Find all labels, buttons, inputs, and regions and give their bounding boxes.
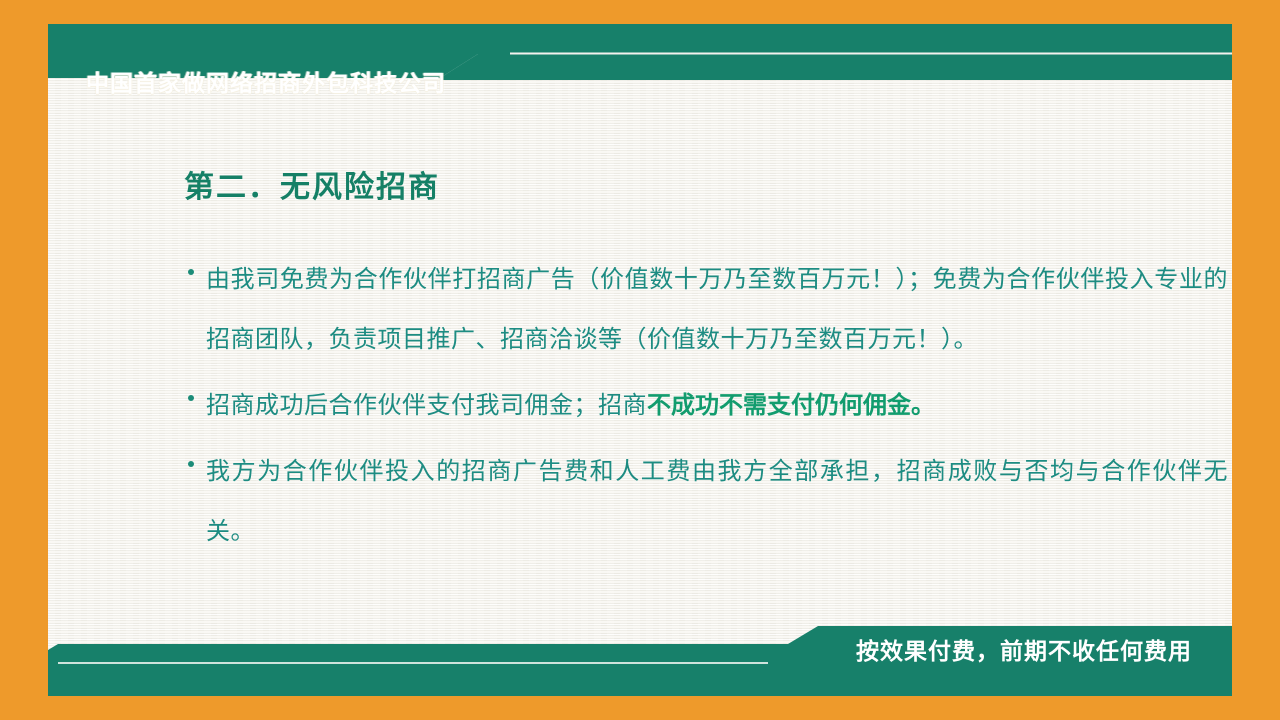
- bullet-dot-icon: [188, 442, 206, 467]
- list-item: 由我司免费为合作伙伴打招商广告（价值数十万乃至数百万元！）；免费为合作伙伴投入专…: [188, 250, 1228, 370]
- list-item-text: 由我司免费为合作伙伴打招商广告（价值数十万乃至数百万元！）；免费为合作伙伴投入专…: [206, 250, 1228, 370]
- footer-tagline: 按效果付费，前期不收任何费用: [856, 632, 1192, 666]
- page-title: 第二．无风险招商: [184, 162, 440, 206]
- header-title: 中国首家做网络招商外包科技公司: [86, 64, 446, 98]
- list-item-text-plain: 招商成功后合作伙伴支付我司佣金；招商: [206, 393, 647, 419]
- bullet-dot-icon: [188, 250, 206, 275]
- list-item-text-plain: 我方为合作伙伴投入的招商广告费和人工费由我方全部承担，招商成败与否均与合作伙伴无…: [206, 459, 1228, 545]
- bullet-dot-icon: [188, 376, 206, 401]
- header-white-divider: [510, 53, 1232, 55]
- list-item: 我方为合作伙伴投入的招商广告费和人工费由我方全部承担，招商成败与否均与合作伙伴无…: [188, 442, 1228, 562]
- list-item-text-plain: 由我司免费为合作伙伴打招商广告（价值数十万乃至数百万元！）；免费为合作伙伴投入专…: [206, 267, 1228, 353]
- header-green-right-strip: [440, 54, 1232, 80]
- list-item-text: 招商成功后合作伙伴支付我司佣金；招商不成功不需支付仍何佣金。: [206, 376, 1228, 436]
- list-item-text: 我方为合作伙伴投入的招商广告费和人工费由我方全部承担，招商成败与否均与合作伙伴无…: [206, 442, 1228, 562]
- bullet-list: 由我司免费为合作伙伴打招商广告（价值数十万乃至数百万元！）；免费为合作伙伴投入专…: [188, 250, 1228, 568]
- footer-white-divider: [58, 662, 768, 664]
- slide-paper-panel: 中国首家做网络招商外包科技公司 第二．无风险招商 由我司免费为合作伙伴打招商广告…: [48, 24, 1232, 696]
- list-item: 招商成功后合作伙伴支付我司佣金；招商不成功不需支付仍何佣金。: [188, 376, 1228, 436]
- list-item-text-emphasis: 不成功不需支付仍何佣金。: [647, 392, 935, 419]
- slide-canvas: 中国首家做网络招商外包科技公司 第二．无风险招商 由我司免费为合作伙伴打招商广告…: [0, 0, 1280, 720]
